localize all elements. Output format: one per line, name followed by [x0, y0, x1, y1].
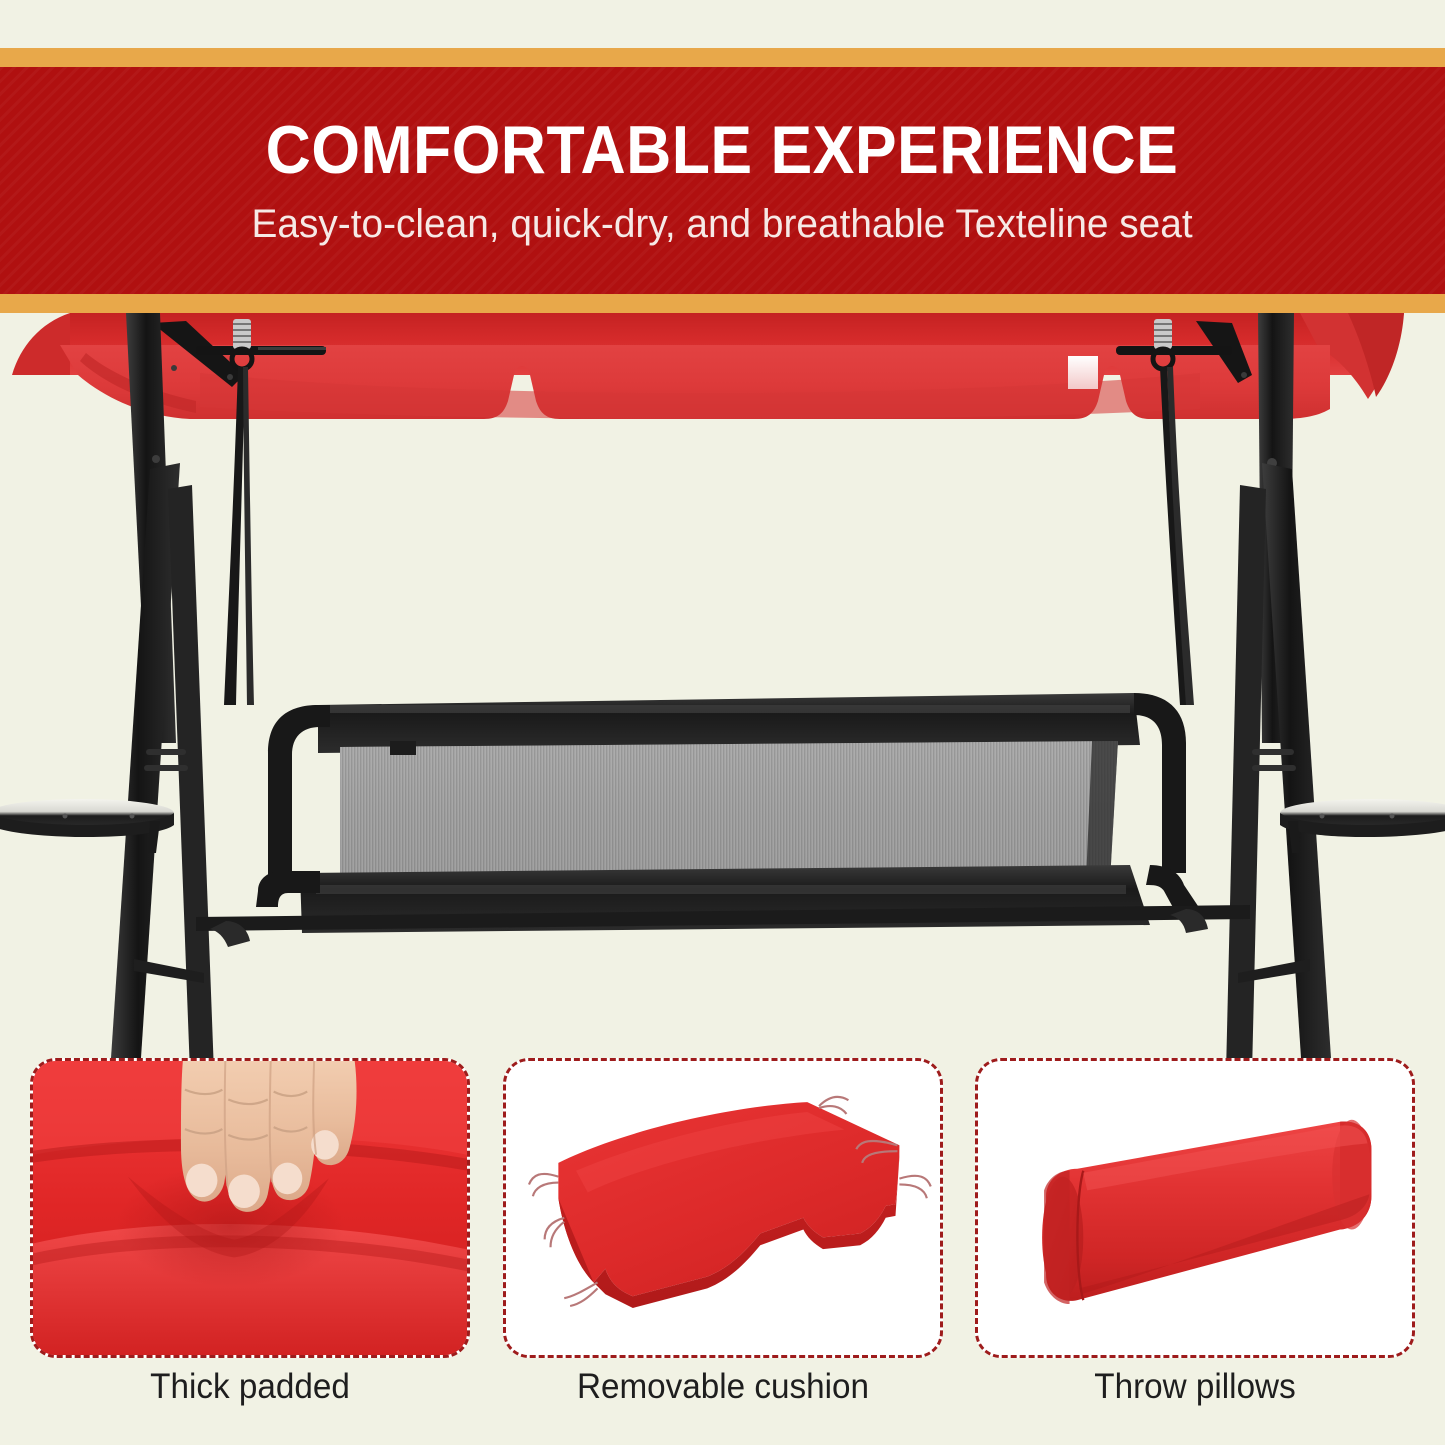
feature-thumb-removable-cushion[interactable] [503, 1058, 943, 1358]
feature-thumb-throw-pillows[interactable] [975, 1058, 1415, 1358]
banner-bottom-stripe-border [0, 294, 1445, 313]
feature-caption-row: Thick padded Removable cushion Throw pil… [0, 1368, 1445, 1438]
headline-banner: COMFORTABLE EXPERIENCE Easy-to-clean, qu… [0, 48, 1445, 313]
swing-illustration [0, 313, 1445, 1073]
caption-throw-pillows: Throw pillows [986, 1368, 1404, 1438]
hero-product-image [0, 313, 1445, 1073]
hand-pressing-red-cushion-icon [33, 1061, 467, 1355]
caption-removable-cushion: Removable cushion [514, 1368, 932, 1438]
feature-thumbnail-row [0, 1058, 1445, 1358]
banner-title: COMFORTABLE EXPERIENCE [266, 116, 1179, 184]
feature-thumb-thick-padded[interactable] [30, 1058, 470, 1358]
red-bolster-pillow-icon [978, 1061, 1412, 1355]
banner-subtitle: Easy-to-clean, quick-dry, and breathable… [252, 202, 1193, 246]
bench-seat [196, 693, 1250, 947]
red-canopy-cushion-icon [506, 1061, 940, 1355]
product-tag [1068, 356, 1098, 389]
banner-top-stripe-border [0, 48, 1445, 67]
caption-thick-padded: Thick padded [41, 1368, 459, 1438]
product-feature-page: COMFORTABLE EXPERIENCE Easy-to-clean, qu… [0, 0, 1445, 1445]
